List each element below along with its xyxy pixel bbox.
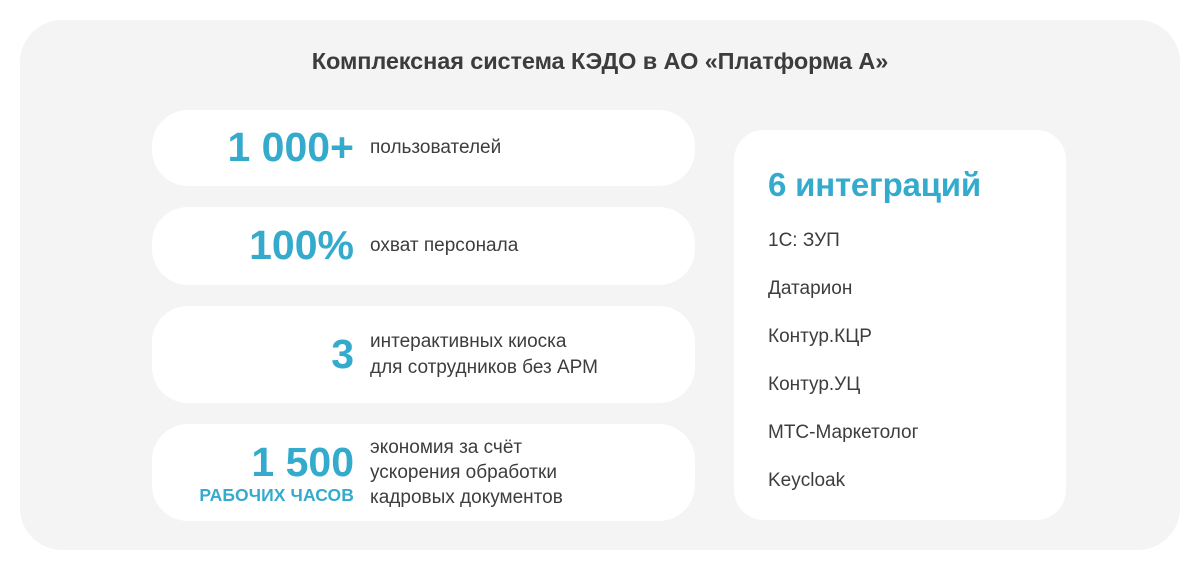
integrations-panel: 6 интеграций 1С: ЗУП Датарион Контур.КЦР… (734, 130, 1066, 520)
stat-subnumber: РАБОЧИХ ЧАСОВ (172, 487, 354, 505)
stat-card-saved-hours: 1 500 РАБОЧИХ ЧАСОВ экономия за счёт уск… (152, 424, 695, 521)
stats-column: 1 000+ пользователей 100% охват персонал… (152, 110, 695, 542)
stat-value-column: 1 000+ (172, 126, 370, 169)
integrations-heading: 6 интеграций (768, 168, 1036, 201)
stat-number: 3 (172, 333, 354, 376)
page-title: Комплексная система КЭДО в АО «Платформа… (20, 48, 1180, 75)
stat-value-column: 1 500 РАБОЧИХ ЧАСОВ (172, 441, 370, 505)
list-item: 1С: ЗУП (768, 231, 1036, 250)
stat-card-kiosks: 3 интерактивных киоска для сотрудников б… (152, 306, 695, 403)
stat-label: охват персонала (370, 233, 518, 258)
stat-label: экономия за счёт ускорения обработки кад… (370, 435, 563, 511)
stat-card-users: 1 000+ пользователей (152, 110, 695, 186)
list-item: Датарион (768, 279, 1036, 298)
list-item: Контур.КЦР (768, 327, 1036, 346)
list-item: МТС-Маркетолог (768, 423, 1036, 442)
stat-number: 1 000+ (172, 126, 354, 169)
list-item: Контур.УЦ (768, 375, 1036, 394)
stat-value-column: 100% (172, 224, 370, 267)
list-item: Keycloak (768, 471, 1036, 490)
stat-label: интерактивных киоска для сотрудников без… (370, 329, 598, 380)
stat-card-coverage: 100% охват персонала (152, 207, 695, 285)
stat-number: 100% (172, 224, 354, 267)
outer-panel: Комплексная система КЭДО в АО «Платформа… (20, 20, 1180, 550)
stat-label: пользователей (370, 135, 501, 160)
stat-value-column: 3 (172, 333, 370, 376)
stat-number: 1 500 (172, 441, 354, 484)
infographic-root: Комплексная система КЭДО в АО «Платформа… (0, 0, 1200, 570)
